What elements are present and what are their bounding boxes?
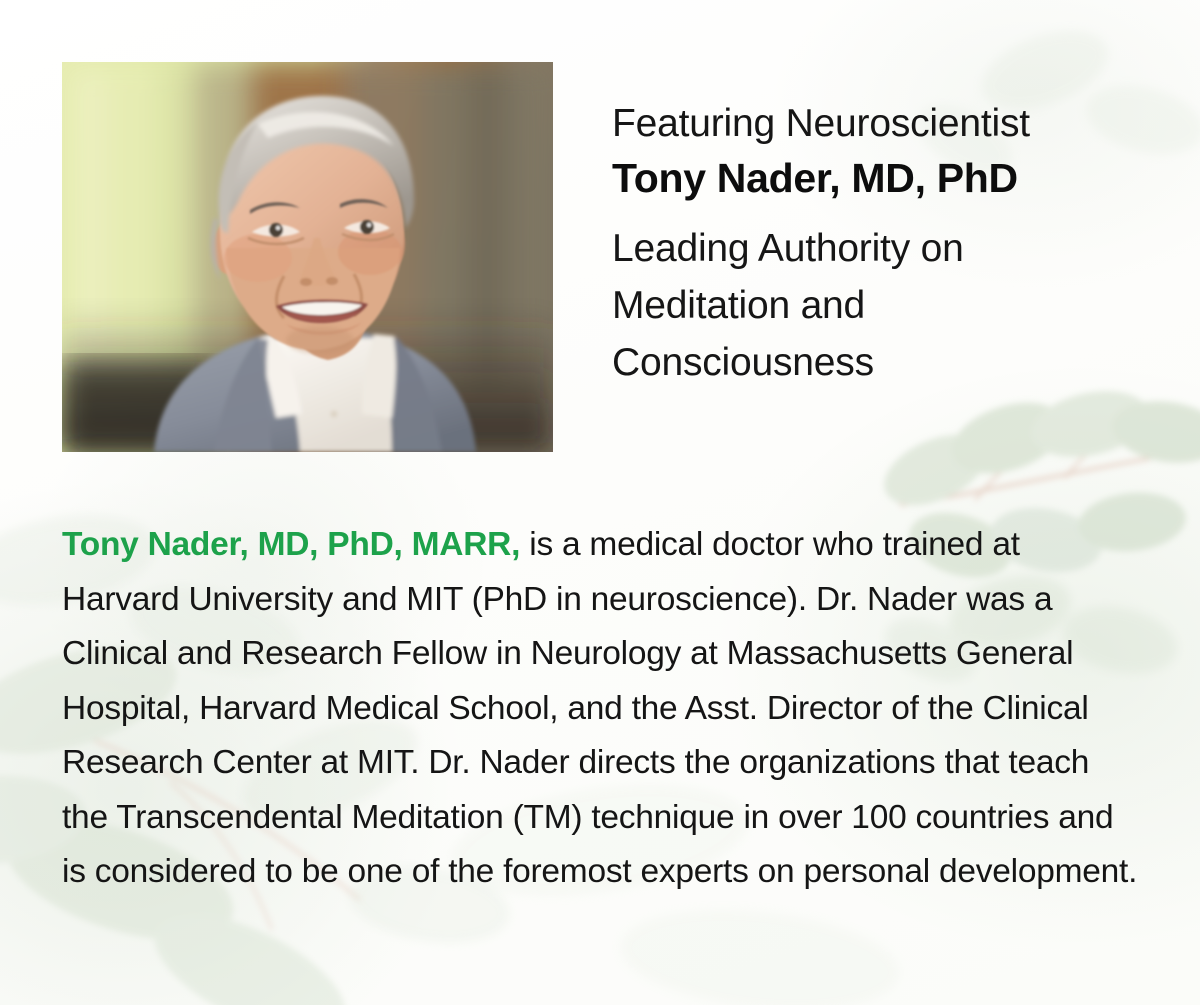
- bio-body-text: is a medical doctor who trained at Harva…: [62, 526, 1137, 890]
- headline-eyebrow: Featuring Neuroscientist: [612, 98, 1172, 150]
- portrait-photo: [62, 62, 553, 452]
- headline-subtitle: Leading Authority on Meditation and Cons…: [612, 220, 1032, 391]
- feature-card: Featuring Neuroscientist Tony Nader, MD,…: [0, 0, 1200, 1005]
- headline-block: Featuring Neuroscientist Tony Nader, MD,…: [612, 98, 1172, 391]
- bio-paragraph: Tony Nader, MD, PhD, MARR, is a medical …: [62, 518, 1140, 900]
- page-title: Tony Nader, MD, PhD: [612, 150, 1172, 206]
- bio-lead-name: Tony Nader, MD, PhD, MARR,: [62, 526, 520, 563]
